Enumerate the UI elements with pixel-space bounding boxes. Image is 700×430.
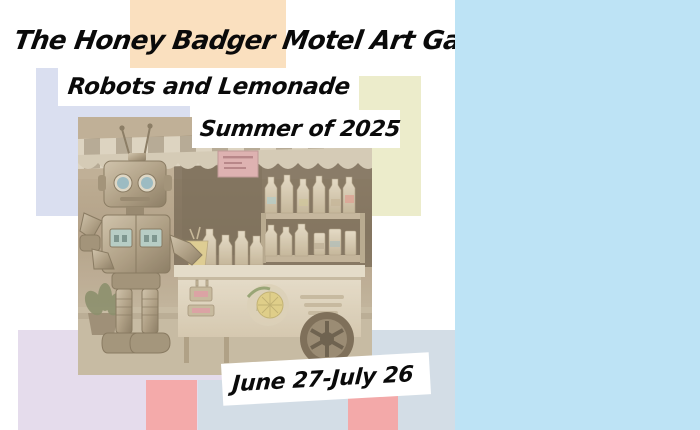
poster-subtitle-band: Robots and Lemonade: [58, 68, 356, 106]
info-panel: The Honey Badger: [455, 0, 700, 430]
poster-season-band: Summer of 2025: [192, 110, 400, 148]
photo-illustration: [78, 117, 372, 375]
poster-title-banner: The Honey Badger Motel Art Gallery: [14, 16, 444, 66]
page-title: The Honey Badger Motel Art Gallery: [12, 26, 525, 56]
poster-canvas: The Honey Badger Motel Art Gallery Robot…: [0, 0, 700, 430]
poster-subtitle: Robots and Lemonade: [56, 74, 351, 100]
poster-season: Summer of 2025: [190, 117, 401, 142]
poster-dates: June 27-July 26: [221, 362, 414, 398]
gallery-photo: [78, 117, 372, 375]
decor-block-pink: [146, 380, 197, 430]
